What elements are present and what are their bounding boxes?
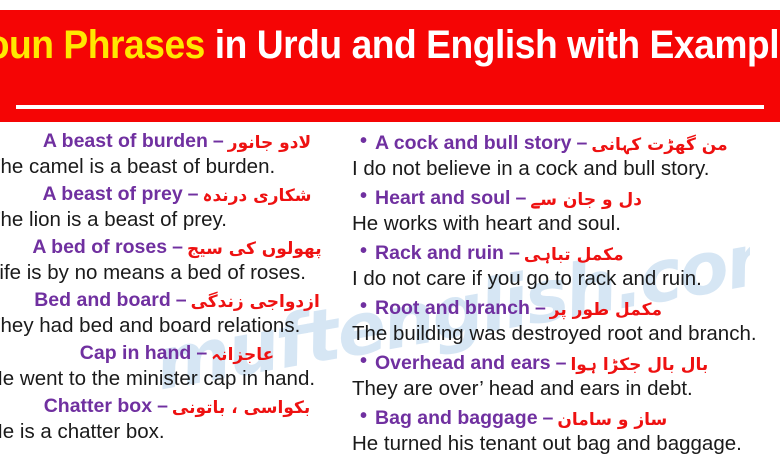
phrase-dash: –: [176, 289, 187, 311]
phrase-dash: –: [543, 407, 554, 429]
phrase-urdu: پھولوں کی سیج: [187, 239, 322, 259]
phrase-dash: –: [535, 297, 546, 319]
example-sentence: The lion is a beast of prey.: [0, 207, 360, 234]
example-sentence: The camel is a beast of burden.: [0, 154, 360, 181]
phrase-entry-right-1: •Heart and soul–دل و جان سے He works wit…: [352, 185, 780, 238]
left-column: A beast of burden–لادو جانور The camel i…: [0, 130, 360, 470]
phrase-urdu: دل و جان سے: [530, 190, 642, 210]
phrase-line: •Root and branch–مکمل طور پر: [352, 295, 780, 321]
phrase-dash: –: [556, 352, 567, 374]
phrase-urdu: عاجزانہ: [211, 345, 274, 365]
bullet-icon: •: [360, 350, 367, 374]
phrase-urdu: مکمل طور پر: [550, 300, 662, 320]
phrase-urdu: مکمل تباہی: [524, 245, 624, 265]
phrase-urdu: لادو جانور: [228, 133, 311, 153]
phrase-english: Bed and board: [34, 289, 171, 311]
page-title-accent: Noun Phrases: [0, 23, 205, 67]
example-sentence: Life is by no means a bed of roses.: [0, 260, 360, 287]
phrase-entry-left-4: Cap in hand–عاجزانہ He went to the minis…: [0, 342, 360, 393]
phrase-dash: –: [196, 342, 207, 364]
phrase-english: A beast of prey: [43, 183, 183, 205]
phrase-line: A bed of roses–پھولوں کی سیج: [0, 236, 360, 260]
phrase-entry-right-4: •Overhead and ears–بال بال جکڑا ہوا They…: [352, 350, 780, 403]
phrase-urdu: ساز و سامان: [557, 410, 667, 430]
example-sentence: He turned his tenant out bag and baggage…: [352, 431, 780, 458]
phrase-urdu: بکواسی ، باتونی: [172, 398, 310, 418]
phrase-entry-left-3: Bed and board–ازدواجی زندگی They had bed…: [0, 289, 360, 340]
page-title: Noun Phrases in Urdu and English with Ex…: [0, 24, 780, 66]
phrase-entry-right-2: •Rack and ruin–مکمل تباہی I do not care …: [352, 240, 780, 293]
page-title-rest: in Urdu and English with Examples: [205, 23, 780, 67]
phrase-english: Heart and soul: [375, 187, 510, 209]
phrase-line: •Bag and baggage–ساز و سامان: [352, 405, 780, 431]
phrase-line: Cap in hand–عاجزانہ: [0, 342, 360, 366]
phrase-dash: –: [172, 236, 183, 258]
bullet-icon: •: [360, 295, 367, 319]
phrase-line: Bed and board–ازدواجی زندگی: [0, 289, 360, 313]
phrase-line: •A cock and bull story–من گھڑت کہانی: [352, 130, 780, 156]
phrase-urdu: بال بال جکڑا ہوا: [570, 355, 708, 375]
phrase-english: A cock and bull story: [375, 132, 572, 154]
example-sentence: He went to the minister cap in hand.: [0, 366, 360, 393]
phrase-english: Overhead and ears: [375, 352, 551, 374]
bullet-icon: •: [360, 405, 367, 429]
right-column: •A cock and bull story–من گھڑت کہانی I d…: [352, 130, 780, 470]
phrase-entry-left-5: Chatter box–بکواسی ، باتونی He is a chat…: [0, 395, 360, 446]
phrase-english: Cap in hand: [80, 342, 192, 364]
phrase-dash: –: [188, 183, 199, 205]
phrase-line: •Heart and soul–دل و جان سے: [352, 185, 780, 211]
example-sentence: They had bed and board relations.: [0, 313, 360, 340]
phrase-entry-left-0: A beast of burden–لادو جانور The camel i…: [0, 130, 360, 181]
example-sentence: I do not care if you go to rack and ruin…: [352, 266, 780, 293]
phrase-english: A beast of burden: [43, 130, 208, 152]
example-sentence: He is a chatter box.: [0, 419, 360, 446]
header-banner: Noun Phrases in Urdu and English with Ex…: [0, 10, 780, 122]
phrase-english: Rack and ruin: [375, 242, 504, 264]
phrase-entry-right-5: •Bag and baggage–ساز و سامان He turned h…: [352, 405, 780, 458]
phrase-line: A beast of burden–لادو جانور: [0, 130, 360, 154]
phrase-entry-right-3: •Root and branch–مکمل طور پر The buildin…: [352, 295, 780, 348]
bullet-icon: •: [360, 185, 367, 209]
example-sentence: He works with heart and soul.: [352, 211, 780, 238]
phrase-english: Root and branch: [375, 297, 530, 319]
phrase-urdu: ازدواجی زندگی: [191, 292, 320, 312]
bullet-icon: •: [360, 240, 367, 264]
phrase-entry-left-1: A beast of prey–شکاری درندہ The lion is …: [0, 183, 360, 234]
phrase-dash: –: [577, 132, 588, 154]
phrase-line: •Overhead and ears–بال بال جکڑا ہوا: [352, 350, 780, 376]
phrase-urdu: شکاری درندہ: [203, 186, 312, 206]
phrase-dash: –: [157, 395, 168, 417]
header-divider: [16, 105, 764, 109]
phrase-line: A beast of prey–شکاری درندہ: [0, 183, 360, 207]
bullet-icon: •: [360, 130, 367, 154]
phrase-english: Bag and baggage: [375, 407, 538, 429]
phrase-entry-right-0: •A cock and bull story–من گھڑت کہانی I d…: [352, 130, 780, 183]
phrase-dash: –: [509, 242, 520, 264]
phrase-line: •Rack and ruin–مکمل تباہی: [352, 240, 780, 266]
example-sentence: They are over’ head and ears in debt.: [352, 376, 780, 403]
phrase-entry-left-2: A bed of roses–پھولوں کی سیج Life is by …: [0, 236, 360, 287]
phrase-list-container: A beast of burden–لادو جانور The camel i…: [0, 130, 780, 470]
phrase-english: A bed of roses: [32, 236, 167, 258]
phrase-english: Chatter box: [44, 395, 152, 417]
example-sentence: I do not believe in a cock and bull stor…: [352, 156, 780, 183]
phrase-line: Chatter box–بکواسی ، باتونی: [0, 395, 360, 419]
phrase-dash: –: [515, 187, 526, 209]
phrase-urdu: من گھڑت کہانی: [591, 135, 727, 155]
phrase-dash: –: [213, 130, 224, 152]
example-sentence: The building was destroyed root and bran…: [352, 321, 780, 348]
